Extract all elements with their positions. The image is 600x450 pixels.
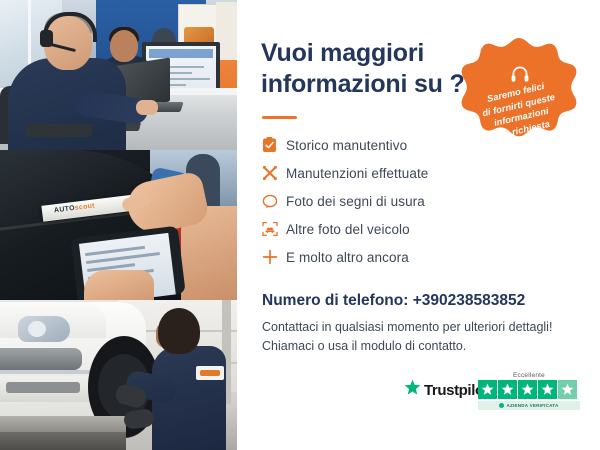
feature-label: Storico manutentivo bbox=[286, 138, 407, 153]
star-icon bbox=[518, 380, 537, 399]
title-divider bbox=[262, 116, 297, 119]
phone-label: Numero di telefono: bbox=[262, 292, 408, 309]
star-icon bbox=[478, 380, 497, 399]
photo-column: AUTOscout bbox=[0, 0, 237, 450]
page-title: Vuoi maggiori informazioni su ? bbox=[261, 38, 476, 100]
speech-bubble-icon bbox=[262, 194, 286, 209]
plus-icon bbox=[262, 249, 286, 265]
star-icon-partial bbox=[558, 380, 577, 399]
contact-line-2: Chiamaci o usa il modulo di contatto. bbox=[262, 337, 582, 356]
call-center-photo bbox=[0, 0, 237, 150]
verified-check-icon bbox=[499, 403, 504, 408]
mechanic-wheel-photo bbox=[0, 300, 237, 450]
phone-number[interactable]: +390238583852 bbox=[413, 292, 526, 309]
vehicle-inspection-photo: AUTOscout bbox=[0, 150, 237, 300]
star-rating bbox=[478, 380, 580, 399]
verified-badge: AZIENDA VERIFICATA bbox=[478, 401, 580, 410]
rating-label: Eccellente bbox=[478, 372, 580, 379]
feature-item-altre-foto-veicolo[interactable]: Altre foto del veicolo bbox=[262, 216, 552, 242]
feature-label: E molto altro ancora bbox=[286, 250, 409, 265]
feature-item-foto-segni-usura[interactable]: Foto dei segni di usura bbox=[262, 188, 552, 214]
feature-label: Manutenzioni effettuate bbox=[286, 166, 428, 181]
feature-item-manutenzioni-effettuate[interactable]: Manutenzioni effettuate bbox=[262, 160, 552, 186]
feature-label: Foto dei segni di usura bbox=[286, 194, 425, 209]
star-icon bbox=[498, 380, 517, 399]
trustpilot-rating: Eccellente AZIEND bbox=[478, 372, 580, 410]
feature-label: Altre foto del veicolo bbox=[286, 222, 410, 237]
feature-item-molto-altro[interactable]: E molto altro ancora bbox=[262, 244, 552, 270]
headset-icon bbox=[510, 64, 530, 84]
trustpilot-logo: Trustpilot bbox=[404, 379, 488, 401]
trustpilot-widget[interactable]: Trustpilot Eccellente bbox=[404, 372, 580, 416]
contact-line-1: Contattaci in qualsiasi momento per ulte… bbox=[262, 318, 582, 337]
contact-instructions: Contattaci in qualsiasi momento per ulte… bbox=[262, 318, 582, 356]
star-icon bbox=[538, 380, 557, 399]
verified-label: AZIENDA VERIFICATA bbox=[506, 403, 558, 408]
callout-badge: Saremo felici di fornirti queste informa… bbox=[460, 36, 578, 154]
tools-wrench-icon bbox=[262, 165, 286, 181]
clipboard-check-icon bbox=[262, 137, 286, 153]
trustpilot-star-icon bbox=[404, 379, 421, 401]
car-frame-icon bbox=[262, 221, 286, 237]
promo-card: AUTOscout bbox=[0, 0, 600, 450]
phone-line[interactable]: Numero di telefono: +390238583852 bbox=[262, 292, 525, 310]
